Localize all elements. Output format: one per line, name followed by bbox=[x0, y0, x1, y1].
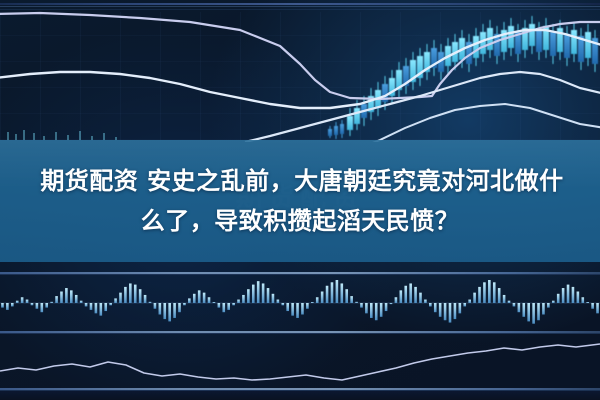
histogram-bar bbox=[375, 303, 378, 320]
headline-overlay-band: 期货配资 安史之乱前，大唐朝廷究竟对河北做什 么了，导致积攒起滔天民愤？ bbox=[0, 140, 600, 262]
histogram-bar bbox=[218, 303, 221, 308]
histogram-bar bbox=[370, 303, 373, 318]
trend-line-series bbox=[0, 344, 600, 380]
histogram-bar bbox=[547, 303, 550, 308]
histogram-bar bbox=[380, 303, 383, 317]
bottom-strip bbox=[0, 391, 600, 400]
histogram-bar bbox=[429, 303, 432, 306]
histogram-bar bbox=[237, 300, 240, 303]
histogram-bar bbox=[154, 303, 157, 309]
histogram-bar bbox=[586, 302, 589, 303]
histogram-bar bbox=[198, 290, 201, 303]
histogram-bar bbox=[404, 286, 407, 303]
histogram-bar bbox=[159, 303, 162, 315]
histogram-bar bbox=[537, 303, 540, 320]
histogram-bar bbox=[134, 285, 137, 303]
histogram-bar bbox=[567, 285, 570, 303]
histogram-bar bbox=[60, 292, 63, 304]
divider-price-macd bbox=[0, 272, 600, 275]
trend-line-panel bbox=[0, 344, 600, 380]
histogram-bar bbox=[90, 303, 93, 310]
histogram-bar bbox=[267, 288, 270, 303]
histogram-bar bbox=[439, 303, 442, 317]
histogram-bar bbox=[114, 298, 117, 303]
histogram-bar bbox=[139, 289, 142, 303]
histogram-bar bbox=[473, 293, 476, 303]
histogram-bar bbox=[419, 293, 422, 303]
histogram-bar bbox=[149, 302, 152, 303]
histogram-bar bbox=[345, 289, 348, 303]
histogram-bar bbox=[331, 282, 334, 303]
histogram-bar bbox=[26, 300, 29, 303]
histogram-bar bbox=[100, 303, 103, 316]
histogram-bar bbox=[311, 302, 314, 303]
histogram-bar bbox=[424, 300, 427, 303]
histogram-bar bbox=[242, 295, 245, 303]
histogram-bar bbox=[183, 303, 186, 305]
histogram-bar bbox=[75, 295, 78, 303]
histogram-bar bbox=[321, 292, 324, 304]
candlestick-series bbox=[328, 16, 598, 139]
histogram-bar bbox=[591, 303, 594, 309]
histogram-bar bbox=[463, 303, 466, 306]
histogram-bar bbox=[277, 300, 280, 303]
histogram-bar bbox=[55, 296, 58, 303]
histogram-bar bbox=[488, 280, 491, 303]
histogram-bar bbox=[291, 303, 294, 316]
histogram-bar bbox=[286, 303, 289, 311]
histogram-bar bbox=[498, 288, 501, 303]
histogram-bar bbox=[503, 295, 506, 303]
upper-band-line bbox=[0, 13, 600, 99]
histogram-bar bbox=[326, 286, 329, 303]
histogram-bar bbox=[449, 303, 452, 323]
histogram-bar bbox=[301, 303, 304, 315]
histogram-bar bbox=[296, 303, 299, 318]
histogram-bar bbox=[144, 295, 147, 303]
macd-histogram-panel bbox=[0, 280, 600, 324]
histogram-bar bbox=[341, 283, 344, 303]
histogram-bar bbox=[316, 297, 319, 303]
headline-line-1: 期货配资 安史之乱前，大唐朝廷究竟对河北做什 bbox=[0, 161, 600, 201]
histogram-bar bbox=[227, 303, 230, 310]
histogram-bar bbox=[178, 303, 181, 312]
histogram-bar bbox=[513, 303, 516, 306]
histogram-bar bbox=[306, 303, 309, 309]
histogram-bar bbox=[360, 303, 363, 308]
histogram-bar bbox=[45, 303, 48, 308]
histogram-bar bbox=[21, 297, 24, 303]
histogram-bar bbox=[355, 302, 358, 303]
histogram-bar bbox=[532, 303, 535, 324]
histogram-bar bbox=[434, 303, 437, 312]
histogram-bar bbox=[508, 301, 511, 303]
histogram-bar bbox=[85, 303, 88, 306]
histogram-bar bbox=[350, 296, 353, 303]
price-chart-panel bbox=[0, 13, 600, 160]
histogram-bar bbox=[522, 303, 525, 317]
histogram-bar bbox=[281, 303, 284, 305]
histogram-bar bbox=[493, 282, 496, 303]
histogram-bar bbox=[577, 292, 580, 304]
histogram-bar bbox=[395, 297, 398, 303]
histogram-bar bbox=[50, 302, 53, 303]
histogram-bar bbox=[454, 303, 457, 319]
histogram-bars bbox=[1, 280, 599, 324]
headline-line-2: 么了，导致积攒起滔天民愤？ bbox=[0, 201, 600, 241]
histogram-bar bbox=[36, 303, 39, 309]
histogram-bar bbox=[557, 294, 560, 303]
histogram-bar bbox=[468, 300, 471, 303]
histogram-bar bbox=[168, 303, 171, 321]
histogram-bar bbox=[41, 303, 44, 312]
histogram-bar bbox=[232, 303, 235, 305]
histogram-bar bbox=[572, 287, 575, 303]
histogram-bar bbox=[65, 288, 68, 303]
histogram-bar bbox=[257, 281, 260, 303]
histogram-bar bbox=[213, 302, 216, 303]
histogram-bar bbox=[208, 297, 211, 303]
histogram-bar bbox=[552, 301, 555, 303]
histogram-bar bbox=[80, 301, 83, 303]
histogram-bar bbox=[365, 303, 368, 313]
histogram-bar bbox=[581, 297, 584, 303]
histogram-bar bbox=[444, 303, 447, 320]
histogram-bar bbox=[193, 294, 196, 303]
chart-banner: 期货配资 期货配资 安史之乱前，大唐朝廷究竟对河北做什 么了，导致积攒起滔天民愤… bbox=[0, 0, 600, 400]
histogram-bar bbox=[336, 280, 339, 303]
histogram-bar bbox=[173, 303, 176, 318]
histogram-bar bbox=[222, 303, 225, 312]
histogram-bar bbox=[203, 293, 206, 303]
histogram-bar bbox=[188, 298, 191, 303]
divider-macd-trend bbox=[0, 331, 600, 334]
histogram-bar bbox=[390, 303, 393, 304]
histogram-bar bbox=[129, 283, 132, 303]
histogram-bar bbox=[478, 287, 481, 303]
histogram-bar bbox=[16, 301, 19, 303]
histogram-bar bbox=[542, 303, 545, 315]
histogram-bar bbox=[124, 287, 127, 303]
histogram-bar bbox=[409, 283, 412, 303]
histogram-bar bbox=[70, 290, 73, 303]
histogram-bar bbox=[104, 303, 107, 311]
histogram-bar bbox=[518, 303, 521, 312]
histogram-bar bbox=[1, 303, 4, 308]
histogram-bar bbox=[385, 303, 388, 311]
histogram-bar bbox=[252, 285, 255, 303]
histogram-bar bbox=[163, 303, 166, 319]
histogram-bar bbox=[95, 303, 98, 313]
histogram-bar bbox=[262, 283, 265, 303]
histogram-bar bbox=[483, 282, 486, 303]
histogram-bar bbox=[109, 303, 112, 305]
histogram-bar bbox=[562, 288, 565, 303]
volume-ticks bbox=[8, 130, 116, 140]
histogram-bar bbox=[400, 290, 403, 303]
histogram-bar bbox=[596, 303, 599, 313]
histogram-bar bbox=[459, 303, 462, 313]
histogram-bar bbox=[272, 294, 275, 303]
histogram-bar bbox=[31, 303, 34, 305]
histogram-bar bbox=[414, 287, 417, 303]
histogram-bar bbox=[11, 303, 14, 306]
histogram-bar bbox=[527, 303, 530, 321]
histogram-bar bbox=[247, 289, 250, 303]
histogram-bar bbox=[6, 303, 9, 310]
histogram-bar bbox=[119, 293, 122, 303]
